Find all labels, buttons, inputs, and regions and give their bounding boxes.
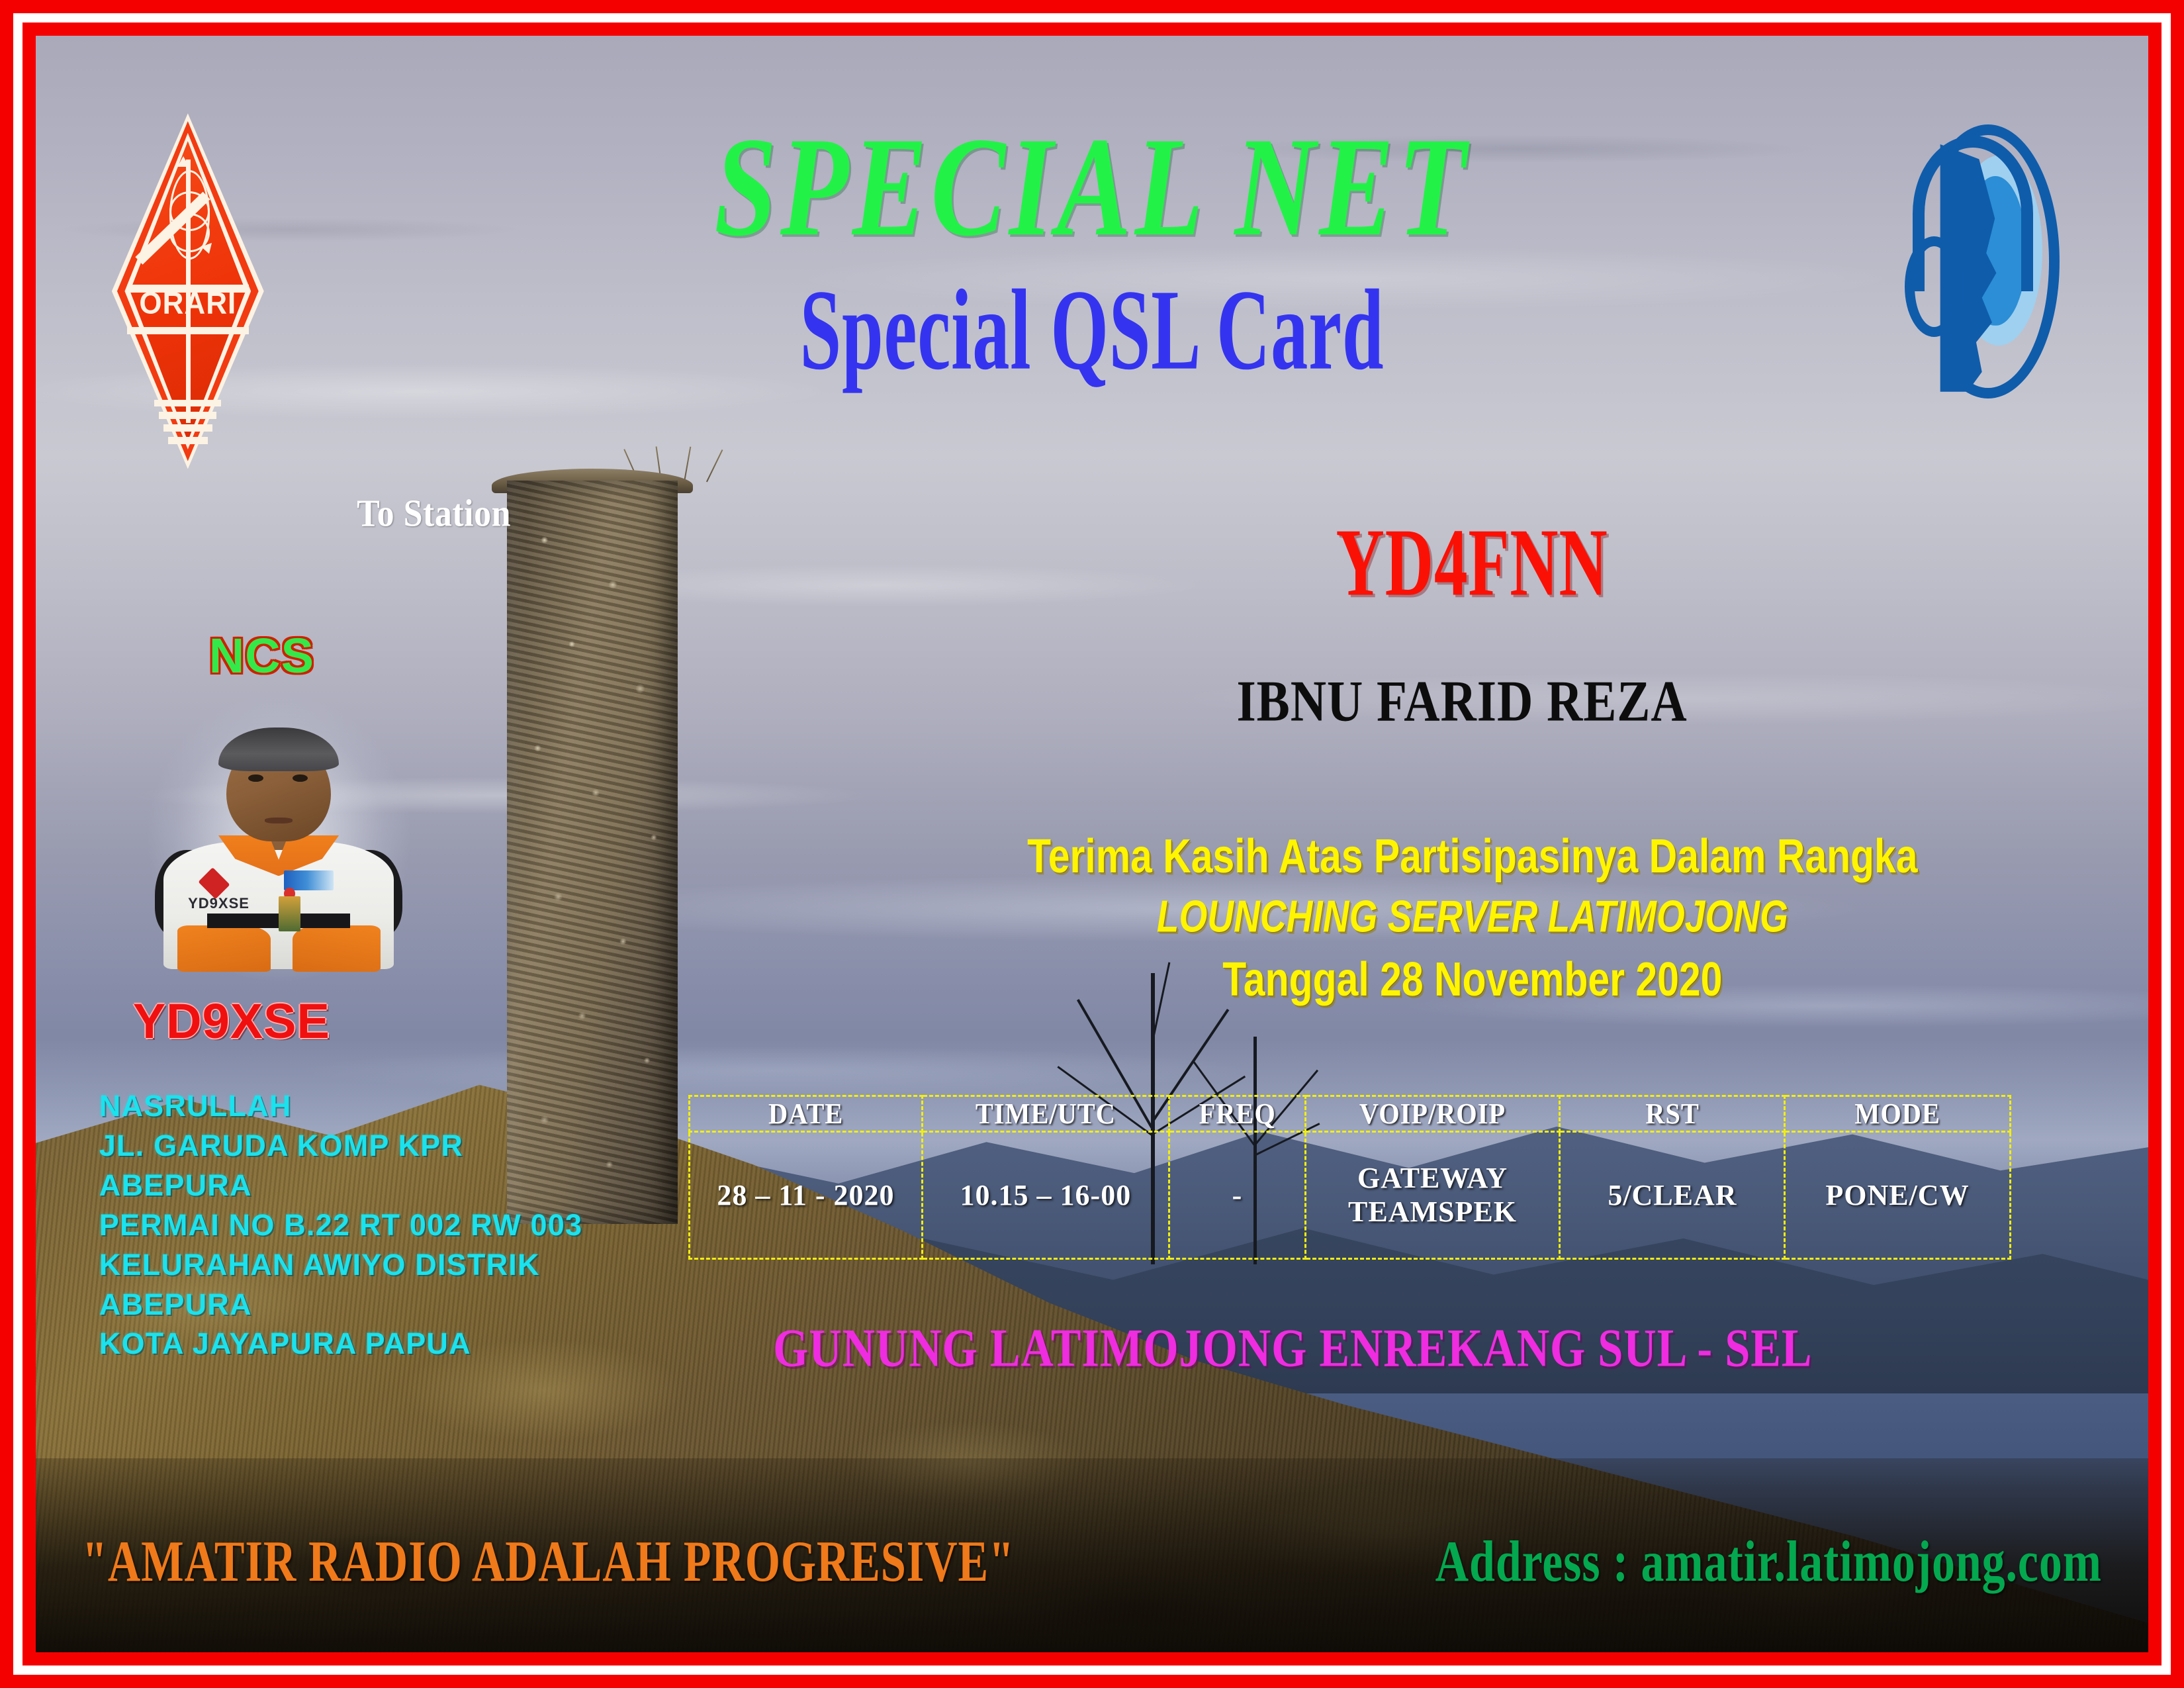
cell-rst: 5/CLEAR: [1560, 1131, 1785, 1258]
column-header-date: DATE: [699, 1096, 913, 1131]
qso-log-table: DATE TIME/UTC FREQ VOIP/ROIP RST MODE 28…: [688, 1095, 2011, 1260]
to-callsign: YD4FNN: [1036, 514, 1909, 611]
ncs-callsign: YD9XSE: [133, 993, 330, 1049]
cell-voip-roip: GATEWAY TEAMSPEK: [1305, 1131, 1560, 1258]
cell-mode: PONE/CW: [1785, 1131, 2010, 1258]
photo-eye-right: [293, 774, 308, 782]
location-line: GUNUNG LATIMOJONG ENREKANG SUL - SEL: [600, 1321, 1985, 1375]
event-title: LOUNCHING SERVER LATIMOJONG: [931, 891, 2015, 943]
column-header-mode: MODE: [1794, 1096, 2001, 1131]
footer-slogan: "AMATIR RADIO ADALAH PROGRESIVE": [82, 1532, 1015, 1591]
card-photo-area: ORARI SPECIAL NET Special QSL Card To St…: [36, 36, 2148, 1652]
cell-freq: -: [1169, 1131, 1305, 1258]
column-header-rst: RST: [1569, 1096, 1776, 1131]
ncs-operator-photo: YD9XSE: [142, 698, 416, 990]
address-line: PERMAI NO B.22 RT 002 RW 003: [99, 1205, 583, 1245]
photo-mouth: [265, 818, 292, 823]
cell-voip-roip-line2: TEAMSPEK: [1306, 1195, 1559, 1229]
ncs-label: NCS: [209, 628, 314, 684]
photo-orange-panel-right: [293, 925, 381, 972]
photo-shirt-callsign: YD9XSE: [188, 895, 250, 912]
photo-eye-left: [248, 774, 263, 782]
footer-web-address: Address : amatir.latimojong.com: [1435, 1532, 2101, 1591]
page-subtitle: Special QSL Card: [205, 272, 1979, 387]
sender-address-block: NASRULLAH JL. GARUDA KOMP KPR ABEPURA PE…: [99, 1086, 583, 1364]
page-title: SPECIAL NET: [78, 117, 2106, 259]
orari-ground-symbol-bar: [154, 400, 221, 407]
thanks-message: Terima Kasih Atas Partisipasinya Dalam R…: [931, 829, 2015, 884]
table-header-row: DATE TIME/UTC FREQ VOIP/ROIP RST MODE: [690, 1096, 2010, 1131]
address-line: ABEPURA: [99, 1166, 583, 1205]
address-line: NASRULLAH: [99, 1086, 583, 1126]
cell-date: 28 – 11 - 2020: [690, 1131, 922, 1258]
to-station-label: To Station: [357, 492, 511, 536]
cell-voip-roip-line1: GATEWAY: [1306, 1161, 1559, 1195]
photo-id-badge: [279, 896, 300, 931]
address-line: JL. GARUDA KOMP KPR: [99, 1126, 583, 1166]
cell-time-utc: 10.15 – 16-00: [922, 1131, 1169, 1258]
orari-ground-symbol-bar: [168, 437, 208, 444]
column-header-time-utc: TIME/UTC: [932, 1096, 1160, 1131]
event-date: Tanggal 28 November 2020: [931, 953, 2015, 1007]
address-line: ABEPURA: [99, 1285, 583, 1325]
photo-orange-panel-left: [177, 925, 271, 972]
column-header-voip-roip: VOIP/ROIP: [1315, 1096, 1549, 1131]
orari-ground-symbol-bar: [163, 424, 212, 432]
card-white-frame: ORARI SPECIAL NET Special QSL Card To St…: [13, 13, 2171, 1675]
table-row: 28 – 11 - 2020 10.15 – 16-00 - GATEWAY T…: [690, 1131, 2010, 1258]
column-header-freq: FREQ: [1175, 1096, 1300, 1131]
operator-name: IBNU FARID REZA: [975, 673, 1948, 731]
qsl-card: ORARI SPECIAL NET Special QSL Card To St…: [0, 0, 2184, 1688]
address-line: KOTA JAYAPURA PAPUA: [99, 1324, 583, 1364]
orari-ground-symbol-bar: [159, 412, 216, 419]
address-line: KELURAHAN AWIYO DISTRIK: [99, 1245, 583, 1285]
card-red-inner-frame: ORARI SPECIAL NET Special QSL Card To St…: [23, 23, 2161, 1665]
